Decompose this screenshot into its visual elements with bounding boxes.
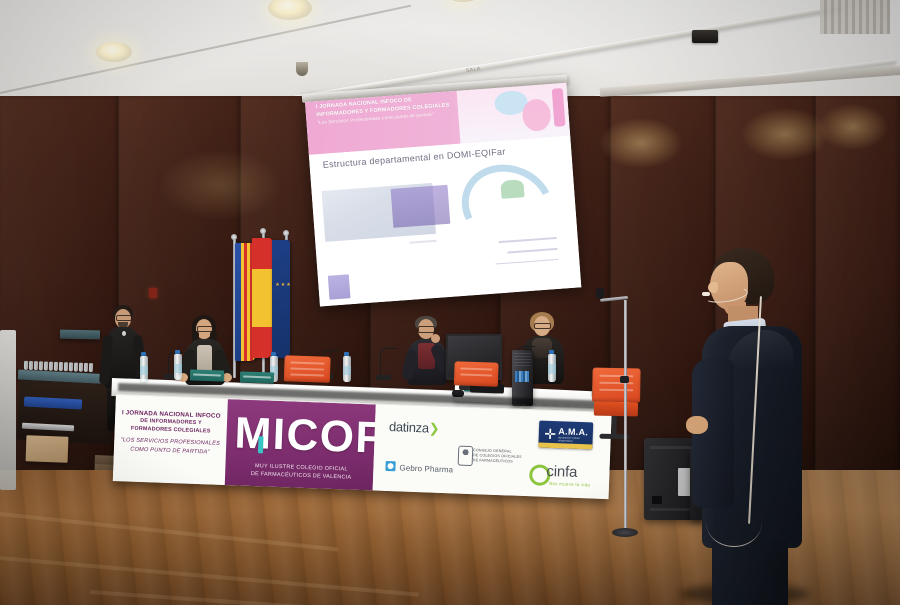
- slide-tree-graphic: [500, 179, 525, 199]
- projection-screen: I JORNADA NACIONAL INFOCO DE INFORMADORE…: [305, 83, 581, 307]
- white-panel-stand: [0, 330, 16, 490]
- chair-slot: [460, 367, 492, 370]
- slide-text-line: [508, 248, 558, 253]
- glass: [24, 361, 28, 370]
- person-panelist-2: [404, 316, 450, 388]
- logo-gebro-pharma: Gebro Pharma: [399, 463, 453, 474]
- ama-cross-icon: ✛: [544, 427, 556, 439]
- slide-text-line: [495, 259, 558, 265]
- cinfa-tagline: Nos mueve la vida: [549, 481, 590, 488]
- micof-wordmark: MICOF: [234, 411, 385, 460]
- glasses: [116, 315, 132, 321]
- glass: [89, 363, 93, 372]
- datinza-leaf-icon: ❯: [429, 420, 440, 435]
- chair-slot: [290, 373, 324, 376]
- logo-ama: ✛ A.M.A. agrupación mutual aseguradora s…: [538, 421, 593, 450]
- microphone-stand-pole[interactable]: [624, 300, 627, 532]
- glass: [59, 362, 63, 371]
- microphone-stand-clutch: [620, 376, 629, 383]
- chair-backrest: [592, 368, 641, 403]
- chair-backrest: [454, 361, 499, 387]
- ceiling-downlight: [96, 42, 132, 62]
- wall-panel: [815, 96, 900, 506]
- glass: [39, 361, 43, 370]
- glass: [79, 363, 83, 372]
- slide-content: I JORNADA NACIONAL INFOCO DE INFORMADORE…: [305, 83, 581, 307]
- emergency-exit-sign: [149, 288, 157, 298]
- glass: [29, 361, 33, 370]
- glass: [34, 361, 38, 370]
- banner-jornada-text: I JORNADA NACIONAL INFOCO DE INFORMADORE…: [118, 409, 224, 457]
- person-speaker-standing: [688, 248, 810, 605]
- slide-photo-overlay: [390, 185, 450, 229]
- flagpole-finial: [231, 234, 237, 240]
- banner-micof-panel: MICOF MUY ILUSTRE COLEGIO OFICIAL DE FAR…: [225, 399, 376, 490]
- micof-subtitle: MUY ILUSTRE COLEGIO OFICIAL DE FARMACÉUT…: [235, 461, 368, 482]
- flag-spain: [252, 238, 272, 358]
- chair: [283, 355, 330, 397]
- side-table-upper: [60, 330, 100, 340]
- slide-donut-chart: [450, 151, 565, 259]
- logo-consejo-general: CONSEJO GENERAL DE COLEGIOS OFICIALES DE…: [473, 448, 522, 465]
- chair-seat: [594, 402, 638, 417]
- ceiling-sprinkler: [296, 62, 308, 76]
- glasses: [418, 326, 435, 333]
- microphone-stand-base: [612, 528, 638, 537]
- gebro-pharma-mark-icon: [385, 461, 395, 471]
- glass: [69, 362, 73, 371]
- glass: [54, 362, 58, 371]
- bottle-label: [343, 366, 351, 375]
- headset-cable-loop: [706, 498, 762, 547]
- chair-slot: [460, 373, 492, 376]
- glasses: [534, 323, 551, 329]
- tower-indicator-lights: [515, 371, 530, 382]
- bottle-label: [174, 364, 182, 373]
- slide-text-line: [410, 240, 436, 243]
- chair: [453, 361, 498, 401]
- trousers: [712, 540, 788, 605]
- chair-slot: [290, 367, 324, 370]
- slide-body: Estructura departamental en DOMI-EQIFar: [309, 136, 581, 306]
- glass: [84, 363, 88, 372]
- micof-accent-mark: [258, 436, 264, 453]
- chair-backrest: [284, 355, 331, 383]
- consejo-general-mark-icon: [458, 446, 474, 467]
- hand: [686, 416, 708, 434]
- slide-decorative-bar: [551, 88, 565, 126]
- tower-vent: [514, 353, 532, 369]
- hand-at-chin: [431, 334, 440, 343]
- glass: [64, 362, 68, 371]
- logo-cinfa: cinfa: [546, 463, 577, 481]
- nameplate: [190, 369, 224, 381]
- slide-footer-logo: [328, 274, 351, 300]
- slide-decorative-blob: [521, 98, 552, 132]
- glass: [44, 361, 48, 370]
- microphone-gooseneck: [380, 348, 397, 377]
- bottle-label: [548, 364, 556, 374]
- banner-sponsors-panel: datinza❯ Gebro Pharma CONSEJO GENERAL DE…: [373, 405, 612, 500]
- table-banner: I JORNADA NACIONAL INFOCO DE INFORMADORE…: [113, 394, 612, 499]
- microphone-base: [376, 375, 391, 380]
- slide-header-graphic: [457, 83, 571, 144]
- flagpole-finial: [260, 228, 266, 234]
- microphone-head: [596, 288, 604, 299]
- bottle-label: [140, 366, 148, 375]
- logo-datinza: datinza❯: [389, 419, 440, 437]
- flag-europe: [272, 240, 290, 358]
- conference-room-photo: SALA SALA I JORNADA NACION: [0, 0, 900, 605]
- ama-bottom-stripe: [538, 443, 592, 450]
- case-latch: [652, 496, 662, 504]
- air-vent: [820, 0, 890, 34]
- headset-mic-capsule: [702, 292, 710, 296]
- flagpole-finial: [283, 230, 289, 236]
- ceiling-speaker-icon: [692, 30, 718, 43]
- glass: [49, 362, 53, 371]
- chair-right: [591, 368, 640, 441]
- nameplate: [240, 371, 274, 383]
- chair-slot: [599, 389, 633, 392]
- cardboard-box: [26, 435, 69, 462]
- datinza-label: datinza: [389, 419, 429, 435]
- chair-slot: [290, 361, 324, 364]
- badge: [122, 331, 126, 336]
- glass: [74, 363, 78, 372]
- banner-left-panel: I JORNADA NACIONAL INFOCO DE INFORMADORE…: [113, 395, 228, 485]
